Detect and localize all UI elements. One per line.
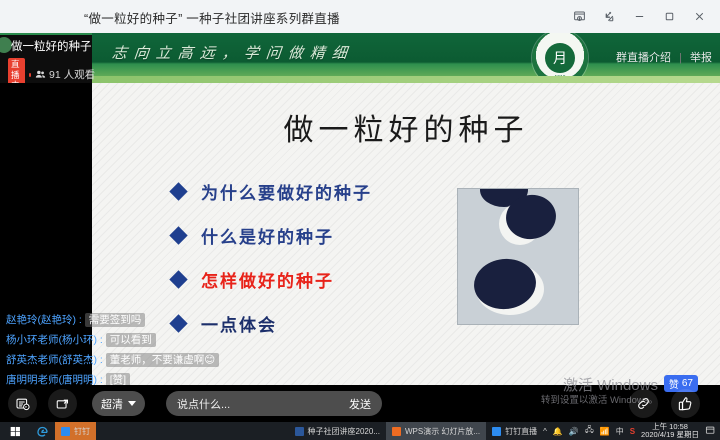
report-link[interactable]: 举报 <box>690 52 712 64</box>
quality-selector[interactable]: 超清 <box>92 391 145 416</box>
bullet-label: 为什么要做好的种子 <box>201 179 372 204</box>
edge-browser-icon[interactable] <box>30 422 55 440</box>
chat-text: 董老师，不要谦虚啊😊 <box>106 353 219 367</box>
taskbar-item-dingtalk[interactable]: 钉钉 <box>55 422 96 440</box>
chat-overlay: 赵艳玲(赵艳玲) : 需要签到吗 杨小环老师(杨小环) : 可以看到 舒英杰老师… <box>0 313 210 385</box>
chat-message: 舒英杰老师(舒英杰) : 董老师，不要谦虚啊😊 <box>6 353 210 367</box>
sogou-ime-icon[interactable]: S <box>630 427 635 436</box>
minimize-icon[interactable] <box>624 0 654 33</box>
chat-separator: : <box>97 374 106 385</box>
emblem-character: 月 <box>545 43 575 73</box>
slide-bullet-list: 为什么要做好的种子 什么是好的种子 怎样做好的种子 一点体会 <box>172 179 492 355</box>
like-badge-label: 赞 <box>669 376 679 391</box>
taskbar-item-wps[interactable]: WPS演示 幻灯片放... <box>386 422 486 440</box>
chat-separator: : <box>97 354 106 366</box>
taskbar-item-label: 种子社团讲座2020... <box>308 426 380 437</box>
chat-text: 可以看到 <box>106 333 156 347</box>
taskbar-item-ppt-file[interactable]: 种子社团讲座2020... <box>289 422 386 440</box>
bullet-label: 怎样做好的种子 <box>201 267 334 292</box>
windows-taskbar: 钉钉 种子社团讲座2020... WPS演示 幻灯片放... 钉钉直播 ^ 🔔 … <box>0 422 720 440</box>
chat-separator: : <box>97 334 106 346</box>
restore-down-icon[interactable] <box>594 0 624 33</box>
taskbar-item-label: 钉钉直播 <box>505 426 537 437</box>
link-separator: | <box>679 52 682 64</box>
chat-author: 赵艳玲(赵艳玲) <box>6 314 76 326</box>
chat-input-placeholder: 说点什么... <box>177 396 230 412</box>
list-item: 一点体会 <box>172 311 492 336</box>
chat-separator: : <box>76 314 85 326</box>
viewer-count-label: 91 人观看 <box>49 67 95 82</box>
list-item: 为什么要做好的种子 <box>172 179 492 204</box>
taskbar-clock[interactable]: 上午 10:58 2020/4/19 星期日 <box>641 423 699 440</box>
share-screen-icon[interactable] <box>48 389 77 418</box>
chat-author: 舒英杰老师(舒英杰) <box>6 354 97 366</box>
dingtalk-live-icon <box>492 427 501 436</box>
diamond-bullet-icon <box>169 182 187 200</box>
close-icon[interactable] <box>684 0 714 33</box>
chat-author: 杨小环老师(杨小环) <box>6 334 97 346</box>
taskbar-item-label: WPS演示 幻灯片放... <box>405 426 480 437</box>
live-intro-link[interactable]: 群直播介绍 <box>616 52 671 64</box>
quality-label: 超清 <box>101 396 123 412</box>
bullet-label: 一点体会 <box>201 311 277 336</box>
action-center-icon[interactable] <box>705 425 716 438</box>
wps-icon <box>392 427 401 436</box>
chat-message: 唐明明老师(唐明明) : [赞] <box>6 373 210 385</box>
recording-dot-icon <box>29 73 31 77</box>
dingtalk-live-window: “做一粒好的种子” 一种子社团讲座系列群直播 <box>0 0 720 440</box>
school-emblem-icon: 月 1910 <box>532 33 588 83</box>
window-title-bar: “做一粒好的种子” 一种子社团讲座系列群直播 <box>0 0 720 34</box>
window-title: “做一粒好的种子” 一种子社团讲座系列群直播 <box>84 8 340 27</box>
bell-icon[interactable]: 🔔 <box>553 427 563 436</box>
dingtalk-icon <box>61 427 70 436</box>
tab-active-indicator <box>0 33 92 35</box>
windows-start-icon[interactable] <box>0 422 30 440</box>
banner-calligraphy: 志向立高远，学问做精细 <box>111 42 355 63</box>
live-stage: 做一粒好的种子 为什么要做好的种子 什么是好的种子 怎样做好的种子 一点体会 <box>0 83 720 385</box>
playback-card-icon[interactable] <box>8 389 37 418</box>
taskbar-item-dingtalk-live[interactable]: 钉钉直播 <box>486 422 543 440</box>
maximize-icon[interactable] <box>654 0 684 33</box>
people-icon <box>35 69 46 80</box>
chat-message: 赵艳玲(赵艳玲) : 需要签到吗 <box>6 313 210 327</box>
clock-date: 2020/4/19 星期日 <box>641 431 699 440</box>
seed-photo <box>457 188 579 325</box>
chat-message: 杨小环老师(杨小环) : 可以看到 <box>6 333 210 347</box>
chat-author: 唐明明老师(唐明明) <box>6 374 97 385</box>
tab-title: 做一粒好的种子 <box>11 38 92 54</box>
live-bottom-bar: 超清 说点什么... 发送 激活 Windows 转到设置以激活 Windows… <box>0 385 720 422</box>
list-item: 什么是好的种子 <box>172 223 492 248</box>
slide-title: 做一粒好的种子 <box>92 105 720 149</box>
network-icon[interactable]: 🖧 <box>585 424 594 438</box>
pin-window-icon[interactable] <box>564 0 594 33</box>
ime-indicator[interactable]: 中 <box>616 426 624 437</box>
chat-text: [赞] <box>106 373 130 385</box>
like-count: 67 <box>682 378 693 389</box>
volume-icon[interactable]: 🔊 <box>569 427 579 436</box>
taskbar-item-label: 钉钉 <box>74 426 90 437</box>
chevron-down-icon <box>128 401 136 406</box>
powerpoint-icon <box>295 427 304 436</box>
diamond-bullet-icon <box>169 226 187 244</box>
viewer-count: 91 人观看 <box>35 67 95 82</box>
diamond-bullet-icon <box>169 270 187 288</box>
system-tray: ^ 🔔 🔊 🖧 📶 中 S 上午 10:58 2020/4/19 星期日 <box>543 423 720 440</box>
emblem-year: 1910 <box>532 75 588 81</box>
wifi-icon[interactable]: 📶 <box>600 427 610 436</box>
list-item: 怎样做好的种子 <box>172 267 492 292</box>
send-button[interactable]: 发送 <box>349 396 371 412</box>
chat-input[interactable]: 说点什么... 发送 <box>166 391 382 416</box>
chevron-up-icon[interactable]: ^ <box>543 427 547 436</box>
chat-text: 需要签到吗 <box>85 313 146 327</box>
live-header: 志向立高远，学问做精细 月 1910 群直播介绍 | 举报 <box>0 33 720 83</box>
thumbs-up-icon[interactable] <box>671 389 700 418</box>
bullet-label: 什么是好的种子 <box>201 223 334 248</box>
window-controls <box>564 0 714 33</box>
share-link-icon[interactable] <box>629 389 658 418</box>
live-tab[interactable]: 做一粒好的种子 直播中 91 人观看 <box>0 33 92 83</box>
header-links: 群直播介绍 | 举报 <box>616 49 712 65</box>
